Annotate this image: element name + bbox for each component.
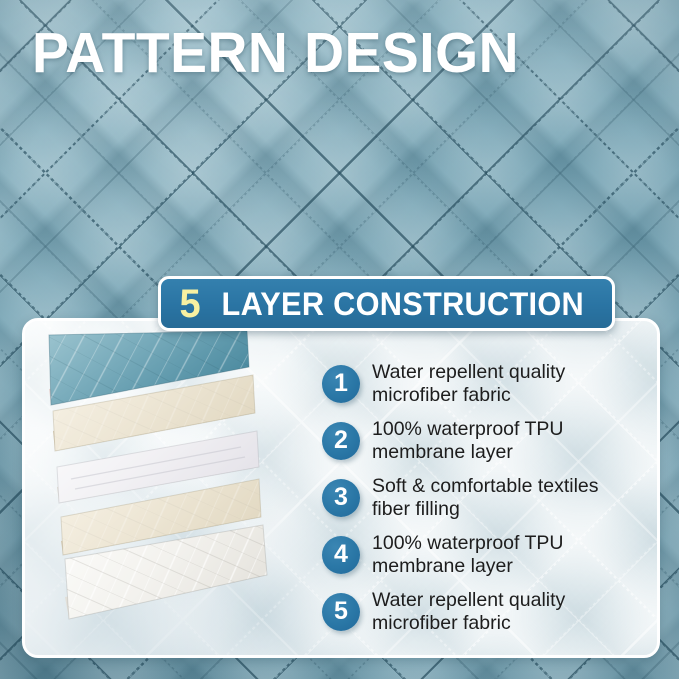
five-layer-illustration bbox=[31, 327, 331, 653]
layer-description-4: 100% waterproof TPU membrane layer bbox=[372, 532, 564, 578]
page-title: PATTERN DESIGN bbox=[32, 22, 519, 84]
list-item: 4 100% waterproof TPU membrane layer bbox=[322, 526, 662, 583]
badge-label: LAYER CONSTRUCTION bbox=[222, 287, 584, 321]
layer-description-5: Water repellent quality microfiber fabri… bbox=[372, 589, 565, 635]
layer-number-badge-4: 4 bbox=[322, 536, 360, 574]
layer-number-badge-1: 1 bbox=[322, 365, 360, 403]
infographic-canvas: PATTERN DESIGN bbox=[0, 0, 679, 679]
layer-description-1: Water repellent quality microfiber fabri… bbox=[372, 361, 565, 407]
layer-number-badge-5: 5 bbox=[322, 593, 360, 631]
layer-number-1: 1 bbox=[334, 371, 348, 396]
list-item: 5 Water repellent quality microfiber fab… bbox=[322, 583, 662, 640]
layer-number-2: 2 bbox=[334, 428, 348, 453]
list-item: 3 Soft & comfortable textiles fiber fill… bbox=[322, 469, 662, 526]
layer-number-5: 5 bbox=[334, 599, 348, 624]
layer-description-3: Soft & comfortable textiles fiber fillin… bbox=[372, 475, 599, 521]
layer-list: 1 Water repellent quality microfiber fab… bbox=[322, 355, 662, 640]
badge-layer-count: 5 bbox=[180, 284, 201, 324]
list-item: 1 Water repellent quality microfiber fab… bbox=[322, 355, 662, 412]
layer-construction-badge: 5 LAYER CONSTRUCTION bbox=[158, 276, 615, 331]
layer-number-badge-3: 3 bbox=[322, 479, 360, 517]
layer-number-badge-2: 2 bbox=[322, 422, 360, 460]
layer-number-4: 4 bbox=[334, 542, 348, 567]
list-item: 2 100% waterproof TPU membrane layer bbox=[322, 412, 662, 469]
layer-number-3: 3 bbox=[334, 485, 348, 510]
layer-description-2: 100% waterproof TPU membrane layer bbox=[372, 418, 564, 464]
